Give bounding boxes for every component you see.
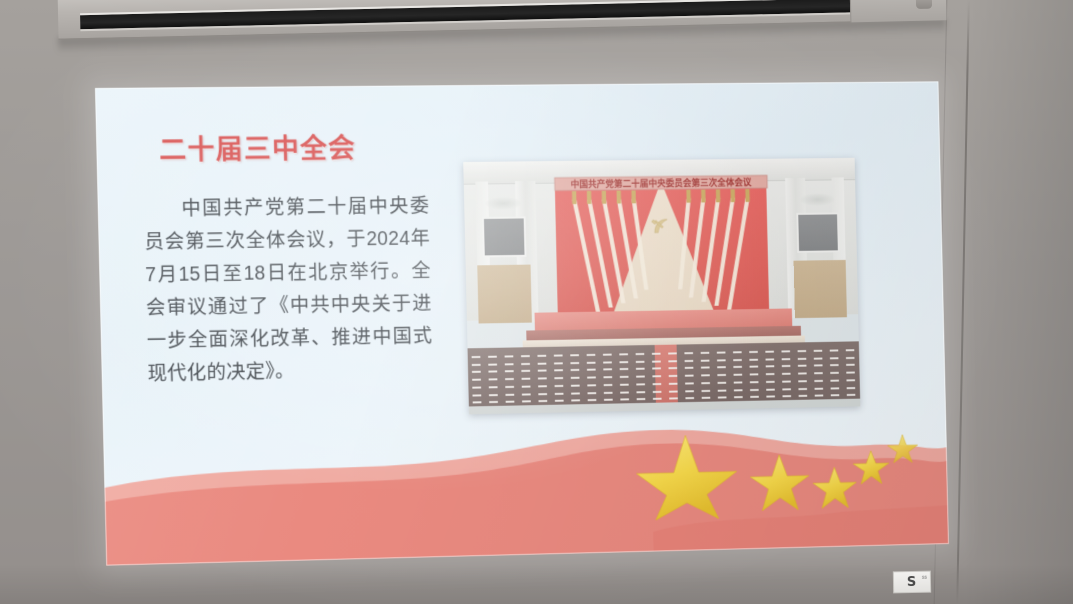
photo-inner: 中国共产党第二十届中央委员会第三次全体会议 bbox=[463, 158, 860, 415]
casing-knob[interactable] bbox=[916, 0, 932, 9]
slide-canvas: 二十届三中全会 中国共产党第二十届中央委员会第三次全体会议，于2024年7月15… bbox=[95, 81, 949, 565]
wall-label-sticker: S ss bbox=[893, 571, 931, 594]
conference-hall-photo: 中国共产党第二十届中央委员会第三次全体会议 bbox=[463, 158, 860, 415]
wall-shading bbox=[963, 0, 1073, 604]
star-smaller bbox=[853, 450, 890, 484]
hall-banner-layer: 中国共产党第二十届中央委员会第三次全体会议 bbox=[463, 158, 860, 415]
projected-slide: 二十届三中全会 中国共产党第二十届中央委员会第三次全体会议，于2024年7月15… bbox=[95, 81, 949, 565]
sticker-glyph: S bbox=[907, 574, 918, 589]
five-stars-decoration bbox=[635, 425, 922, 521]
slide-title: 二十届三中全会 bbox=[159, 127, 357, 168]
slide-body-text: 中国共产党第二十届中央委员会第三次全体会议，于2024年7月15日至18日在北京… bbox=[143, 190, 433, 391]
star-smallest bbox=[887, 434, 918, 463]
star-large bbox=[636, 434, 738, 520]
star-small bbox=[813, 467, 857, 509]
sticker-subtext: ss bbox=[922, 575, 927, 581]
star-medium bbox=[750, 454, 810, 511]
